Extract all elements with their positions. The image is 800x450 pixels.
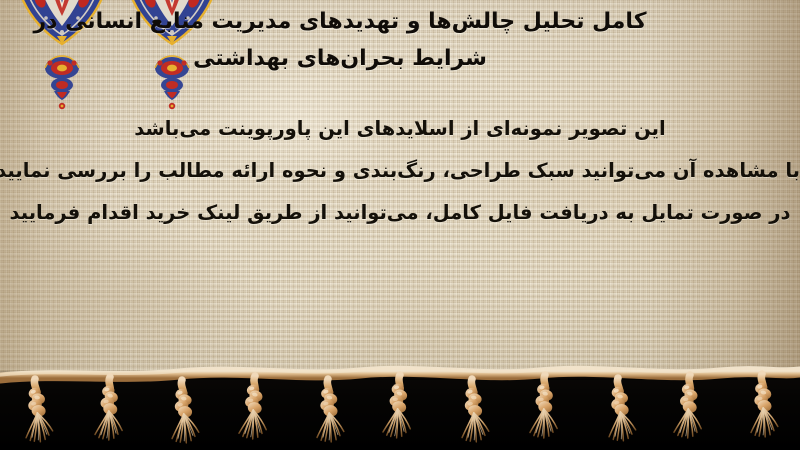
body-line-2: با مشاهده آن می‌توانید سبک طراحی، رنگ‌بن… [0, 150, 800, 192]
tassel [383, 374, 414, 439]
tassel [459, 378, 489, 442]
title-line-2: شرایط بحران‌های بهداشتی [0, 40, 800, 77]
tassel [749, 374, 778, 438]
body-line-1: این تصویر نمونه‌ای از اسلایدهای این پاور… [0, 108, 800, 150]
tassel [22, 378, 53, 443]
tassel [530, 375, 559, 439]
tassel [169, 379, 199, 443]
tassel [605, 377, 636, 442]
tassel [95, 377, 124, 441]
body-line-3: در صورت تمایل به دریافت فایل کامل، می‌تو… [0, 192, 800, 234]
carpet-fringe-zone [0, 355, 800, 450]
title-line-1: کامل تحلیل چالش‌ها و تهدیدهای مدیریت منا… [0, 3, 800, 40]
tassel [674, 374, 704, 438]
slide-canvas: کامل تحلیل چالش‌ها و تهدیدهای مدیریت منا… [0, 0, 800, 450]
slide-body: این تصویر نمونه‌ای از اسلایدهای این پاور… [0, 108, 800, 234]
tassel [315, 379, 344, 443]
slide-title: کامل تحلیل چالش‌ها و تهدیدهای مدیریت منا… [0, 3, 800, 77]
carpet-fringe-tassels [0, 355, 800, 450]
slide-text-layer: کامل تحلیل چالش‌ها و تهدیدهای مدیریت منا… [0, 0, 800, 360]
tassel [239, 375, 269, 439]
